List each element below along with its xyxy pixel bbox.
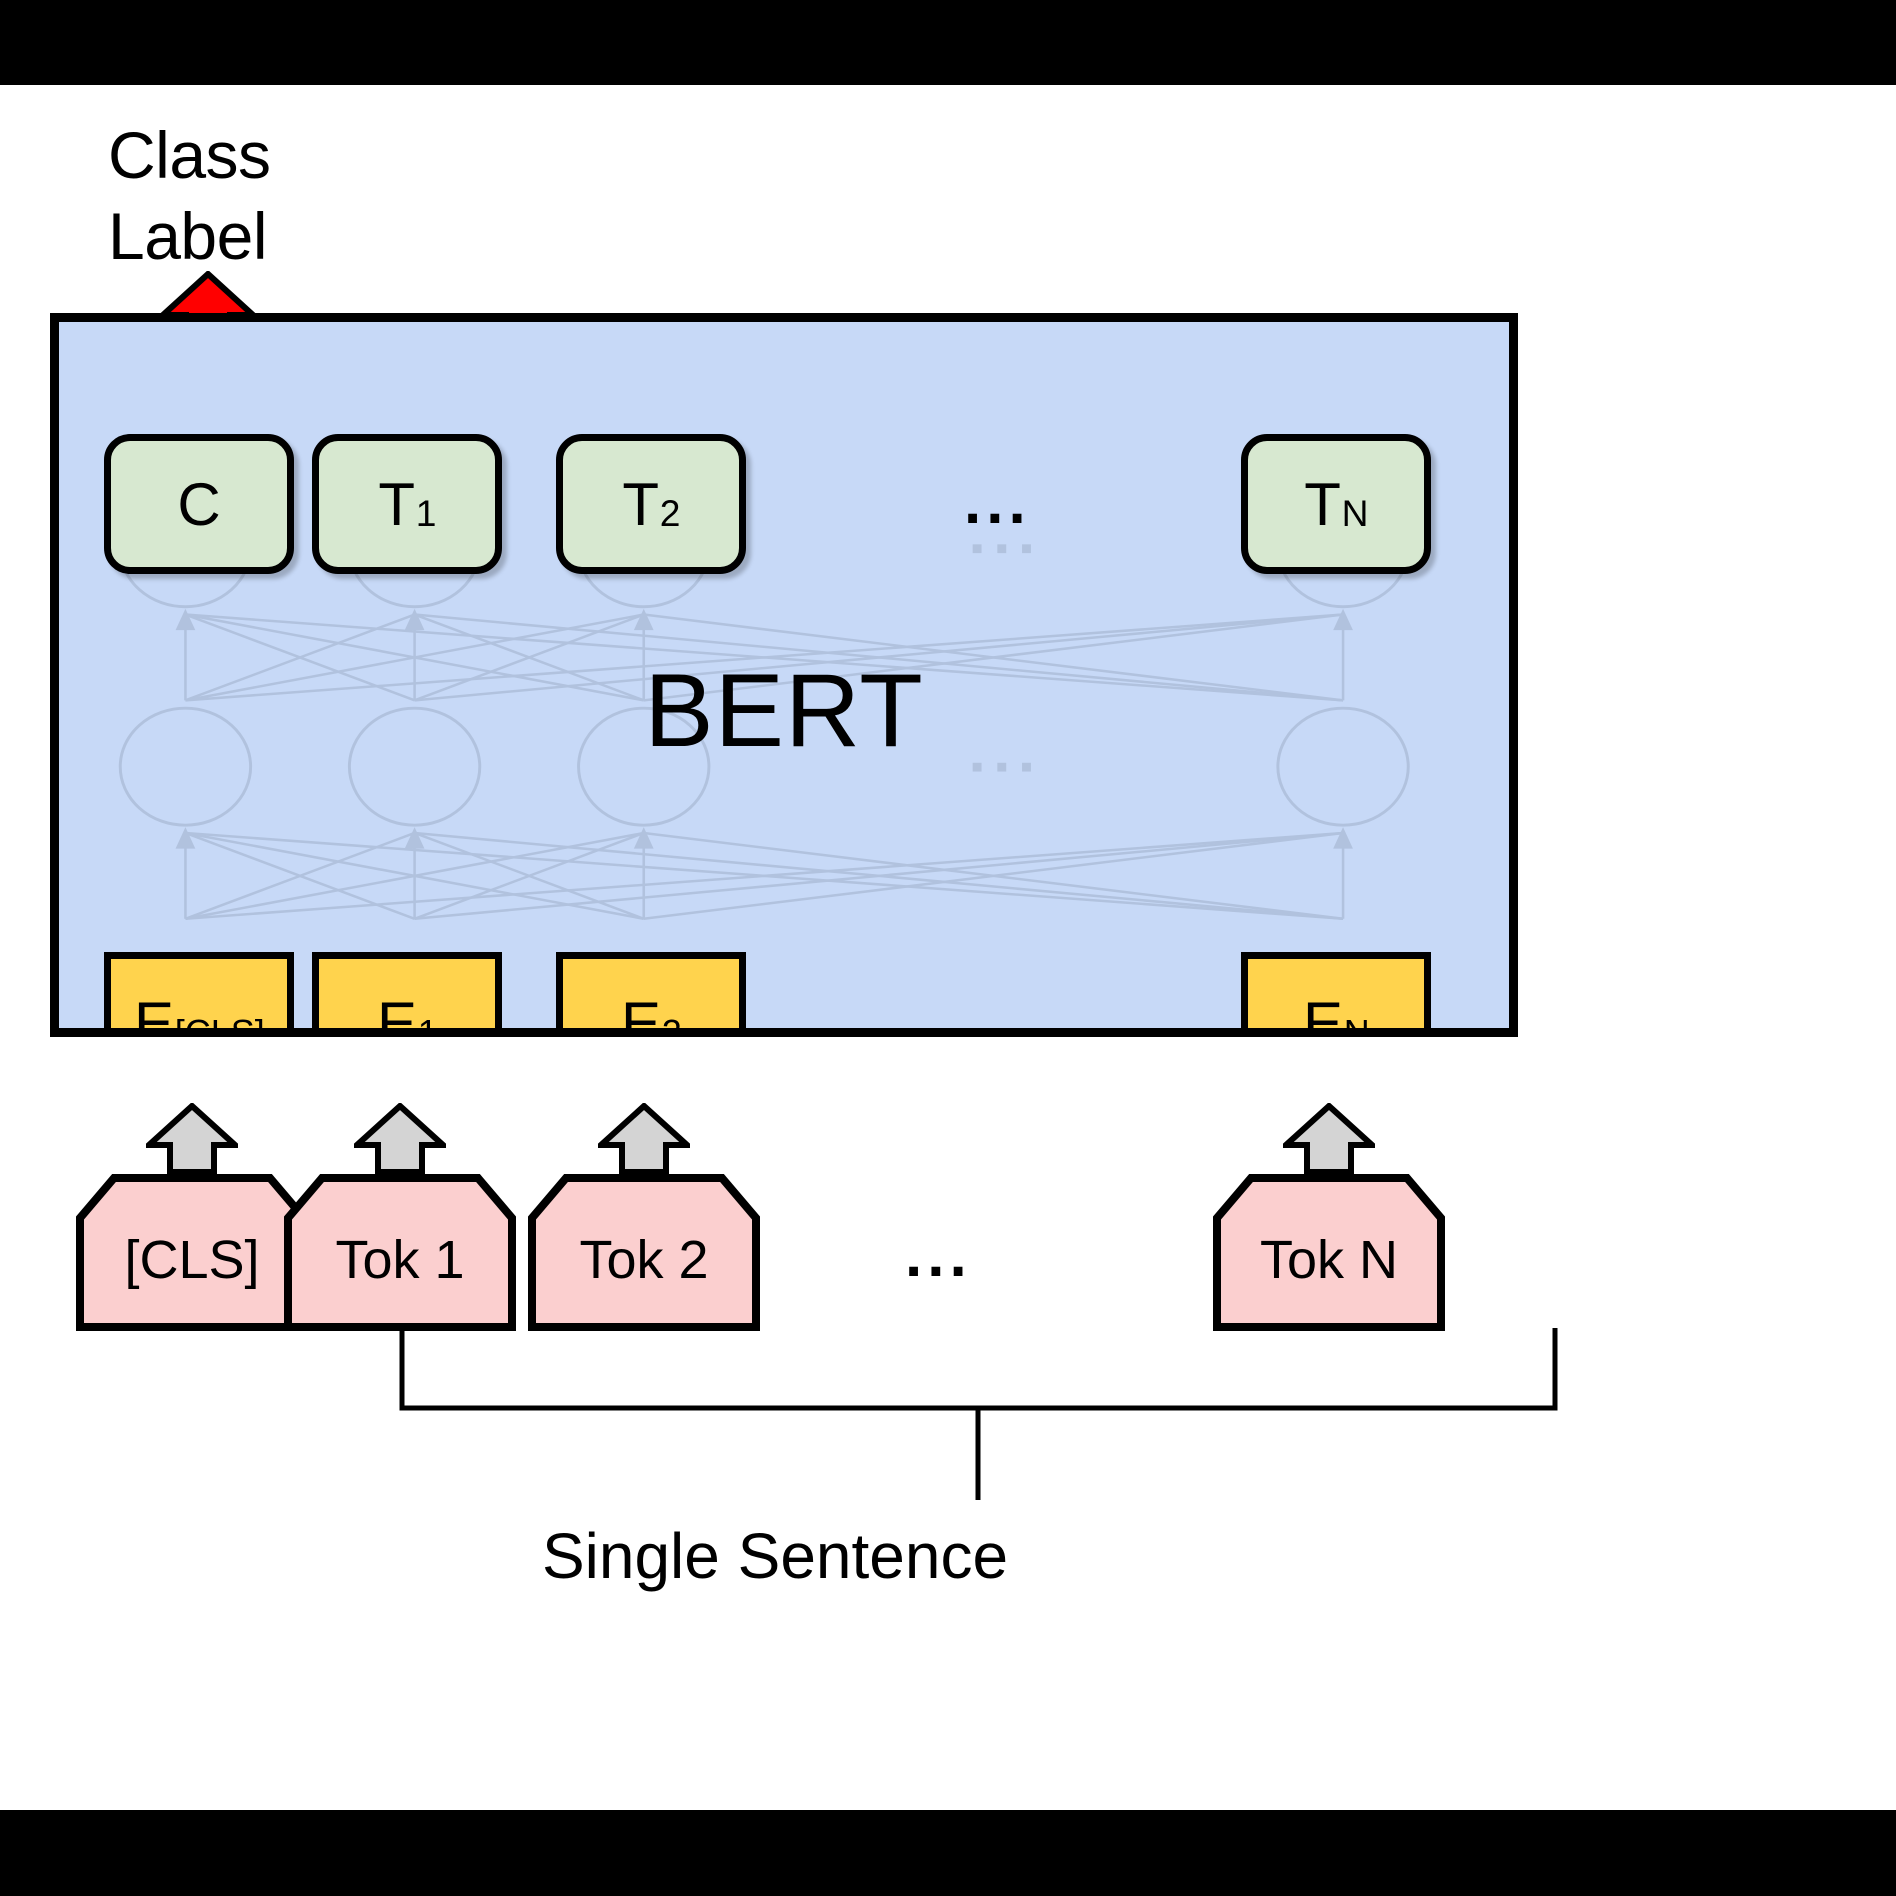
bert-encoder-panel: BERT C T1 T2 TN ... E[CLS] E1 xyxy=(50,313,1518,1037)
token-1-box[interactable]: Tok 1 xyxy=(284,1174,516,1331)
cls-output-label: C xyxy=(177,470,220,539)
token-input-arrow-2 xyxy=(598,1103,690,1175)
cls-token-label: [CLS] xyxy=(76,1174,308,1331)
token2-embedding-box[interactable]: E2 xyxy=(556,952,746,1037)
token2-embedding-sub: 2 xyxy=(662,1012,682,1037)
token1-output-sub: 1 xyxy=(416,492,437,535)
output-row-ellipsis: ... xyxy=(964,472,1031,534)
token-row-ellipsis: ... xyxy=(905,1225,972,1287)
token2-output-box[interactable]: T2 xyxy=(556,434,746,574)
token-2-box[interactable]: Tok 2 xyxy=(528,1174,760,1331)
token1-embedding-label: E xyxy=(377,989,417,1038)
letterbox-bottom xyxy=(0,1810,1896,1896)
class-label-text: Class Label xyxy=(108,115,468,276)
tokenN-output-label: T xyxy=(1304,470,1341,539)
cls-token-box[interactable]: [CLS] xyxy=(76,1174,308,1331)
cls-output-box[interactable]: C xyxy=(104,434,294,574)
token-input-arrow-n xyxy=(1283,1103,1375,1175)
token2-embedding-label: E xyxy=(621,989,661,1038)
cls-embedding-sub: [CLS] xyxy=(175,1012,265,1037)
token-input-arrow-cls xyxy=(146,1103,238,1175)
token1-output-label: T xyxy=(378,470,415,539)
tokenN-embedding-label: E xyxy=(1303,989,1343,1038)
letterbox-top xyxy=(0,0,1896,85)
cls-embedding-box[interactable]: E[CLS] xyxy=(104,952,294,1037)
tokenN-output-sub: N xyxy=(1342,492,1369,535)
token1-embedding-sub: 1 xyxy=(418,1012,438,1037)
embedding-row-ellipsis: ... xyxy=(964,994,1031,1037)
token-2-label: Tok 2 xyxy=(528,1174,760,1331)
figure-canvas: Class Label xyxy=(0,0,1896,1896)
bert-model-label: BERT xyxy=(59,652,1509,771)
token-n-label: Tok N xyxy=(1213,1174,1445,1331)
tokenN-output-box[interactable]: TN xyxy=(1241,434,1431,574)
token-input-arrow-1 xyxy=(354,1103,446,1175)
token-1-label: Tok 1 xyxy=(284,1174,516,1331)
cls-embedding-label: E xyxy=(134,989,174,1038)
token2-output-label: T xyxy=(622,470,659,539)
token1-output-box[interactable]: T1 xyxy=(312,434,502,574)
single-sentence-label: Single Sentence xyxy=(0,1519,1550,1593)
sentence-bracket xyxy=(380,1328,1580,1528)
diagram-area: Class Label xyxy=(0,85,1896,1810)
token2-output-sub: 2 xyxy=(660,492,681,535)
token1-embedding-box[interactable]: E1 xyxy=(312,952,502,1037)
token-n-box[interactable]: Tok N xyxy=(1213,1174,1445,1331)
tokenN-embedding-box[interactable]: EN xyxy=(1241,952,1431,1037)
tokenN-embedding-sub: N xyxy=(1344,1012,1370,1037)
